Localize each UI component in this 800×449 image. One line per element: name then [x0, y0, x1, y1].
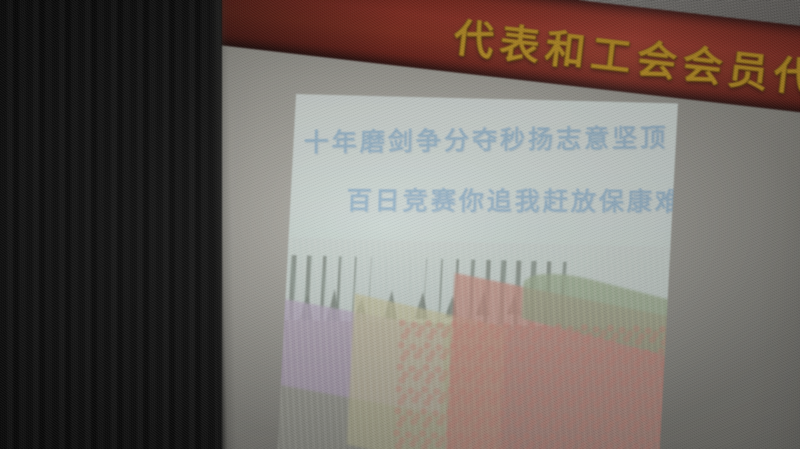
slide-headline-line-1: 十年磨剑争分夺秒扬志意坚顶: [303, 118, 668, 159]
flower-field-photo: [277, 238, 670, 449]
conference-hall-photo: 十年磨剑争分夺秒扬志意坚顶 百日竞赛你追我赶放保康难臭 代表和工会会员代表大: [0, 0, 800, 449]
slide-headline-line-2: 百日竞赛你追我赶放保康难臭: [346, 181, 678, 218]
flower-speckle: [392, 318, 671, 449]
stage-curtain: [0, 0, 222, 449]
projected-slide: 十年磨剑争分夺秒扬志意坚顶 百日竞赛你追我赶放保康难臭: [277, 94, 678, 449]
